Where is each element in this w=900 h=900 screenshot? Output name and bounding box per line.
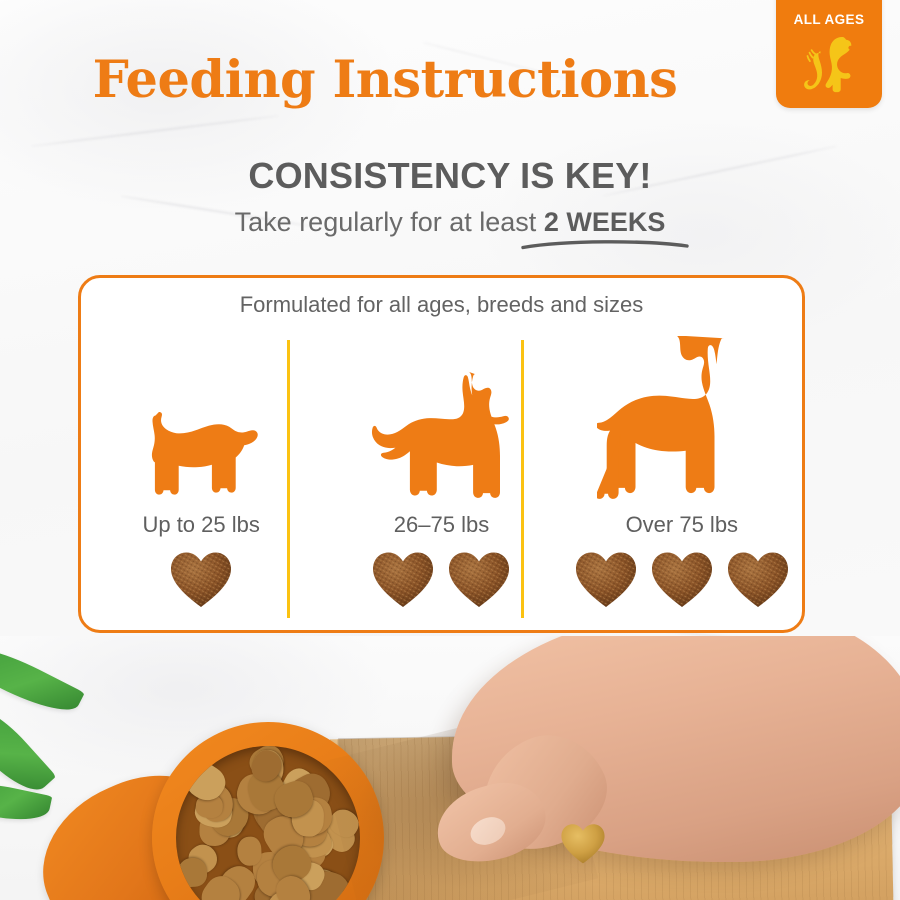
size-column-small: Up to 25 lbs — [81, 334, 321, 624]
medium-dog-icon — [365, 334, 517, 502]
tagline-prefix: Take regularly for at least — [235, 207, 537, 237]
large-dog-icon — [597, 334, 767, 502]
tagline: Take regularly for at least 2 WEEKS — [0, 207, 900, 238]
heart-treat-icon — [574, 550, 638, 610]
weight-label-medium: 26–75 lbs — [394, 512, 489, 542]
size-column-medium: 26–75 lbs — [321, 334, 561, 624]
all-ages-badge-label: ALL AGES — [794, 12, 865, 27]
feeding-instructions-infographic: ALL AGES Feeding Instructions CONSISTENC… — [0, 0, 900, 900]
weight-label-large: Over 75 lbs — [626, 512, 739, 542]
heart-treat-icon — [726, 550, 790, 610]
heart-treat-icon — [447, 550, 511, 610]
held-heart-treat-icon — [560, 822, 606, 866]
kibble-piece — [237, 836, 262, 866]
jar-contents — [176, 746, 360, 900]
feeding-chart-card: Formulated for all ages, breeds and size… — [78, 275, 805, 633]
heart-treat-icon — [371, 550, 435, 610]
plant-leaf — [0, 636, 85, 723]
heart-treat-icon — [650, 550, 714, 610]
sitting-dog-icon — [798, 29, 860, 100]
underline-swash-icon — [520, 238, 690, 250]
treat-row-small — [169, 550, 233, 610]
page-title: Feeding Instructions — [0, 50, 770, 110]
tagline-emphasis: 2 WEEKS — [544, 207, 666, 237]
small-dog-icon — [142, 334, 260, 502]
all-ages-badge: ALL AGES — [776, 0, 882, 108]
subtitle: CONSISTENCY IS KEY! — [0, 155, 900, 197]
tagline-emphasis-wrap: 2 WEEKS — [544, 207, 666, 238]
treat-row-large — [574, 550, 790, 610]
size-columns: Up to 25 lbs — [81, 334, 802, 624]
kibble-piece — [177, 857, 207, 887]
treat-row-medium — [371, 550, 511, 610]
weight-label-small: Up to 25 lbs — [142, 512, 259, 542]
product-photo — [0, 636, 900, 900]
marble-vein — [31, 115, 279, 147]
heart-treat-icon — [169, 550, 233, 610]
card-heading: Formulated for all ages, breeds and size… — [81, 292, 802, 318]
size-column-large: Over 75 lbs — [562, 334, 802, 624]
